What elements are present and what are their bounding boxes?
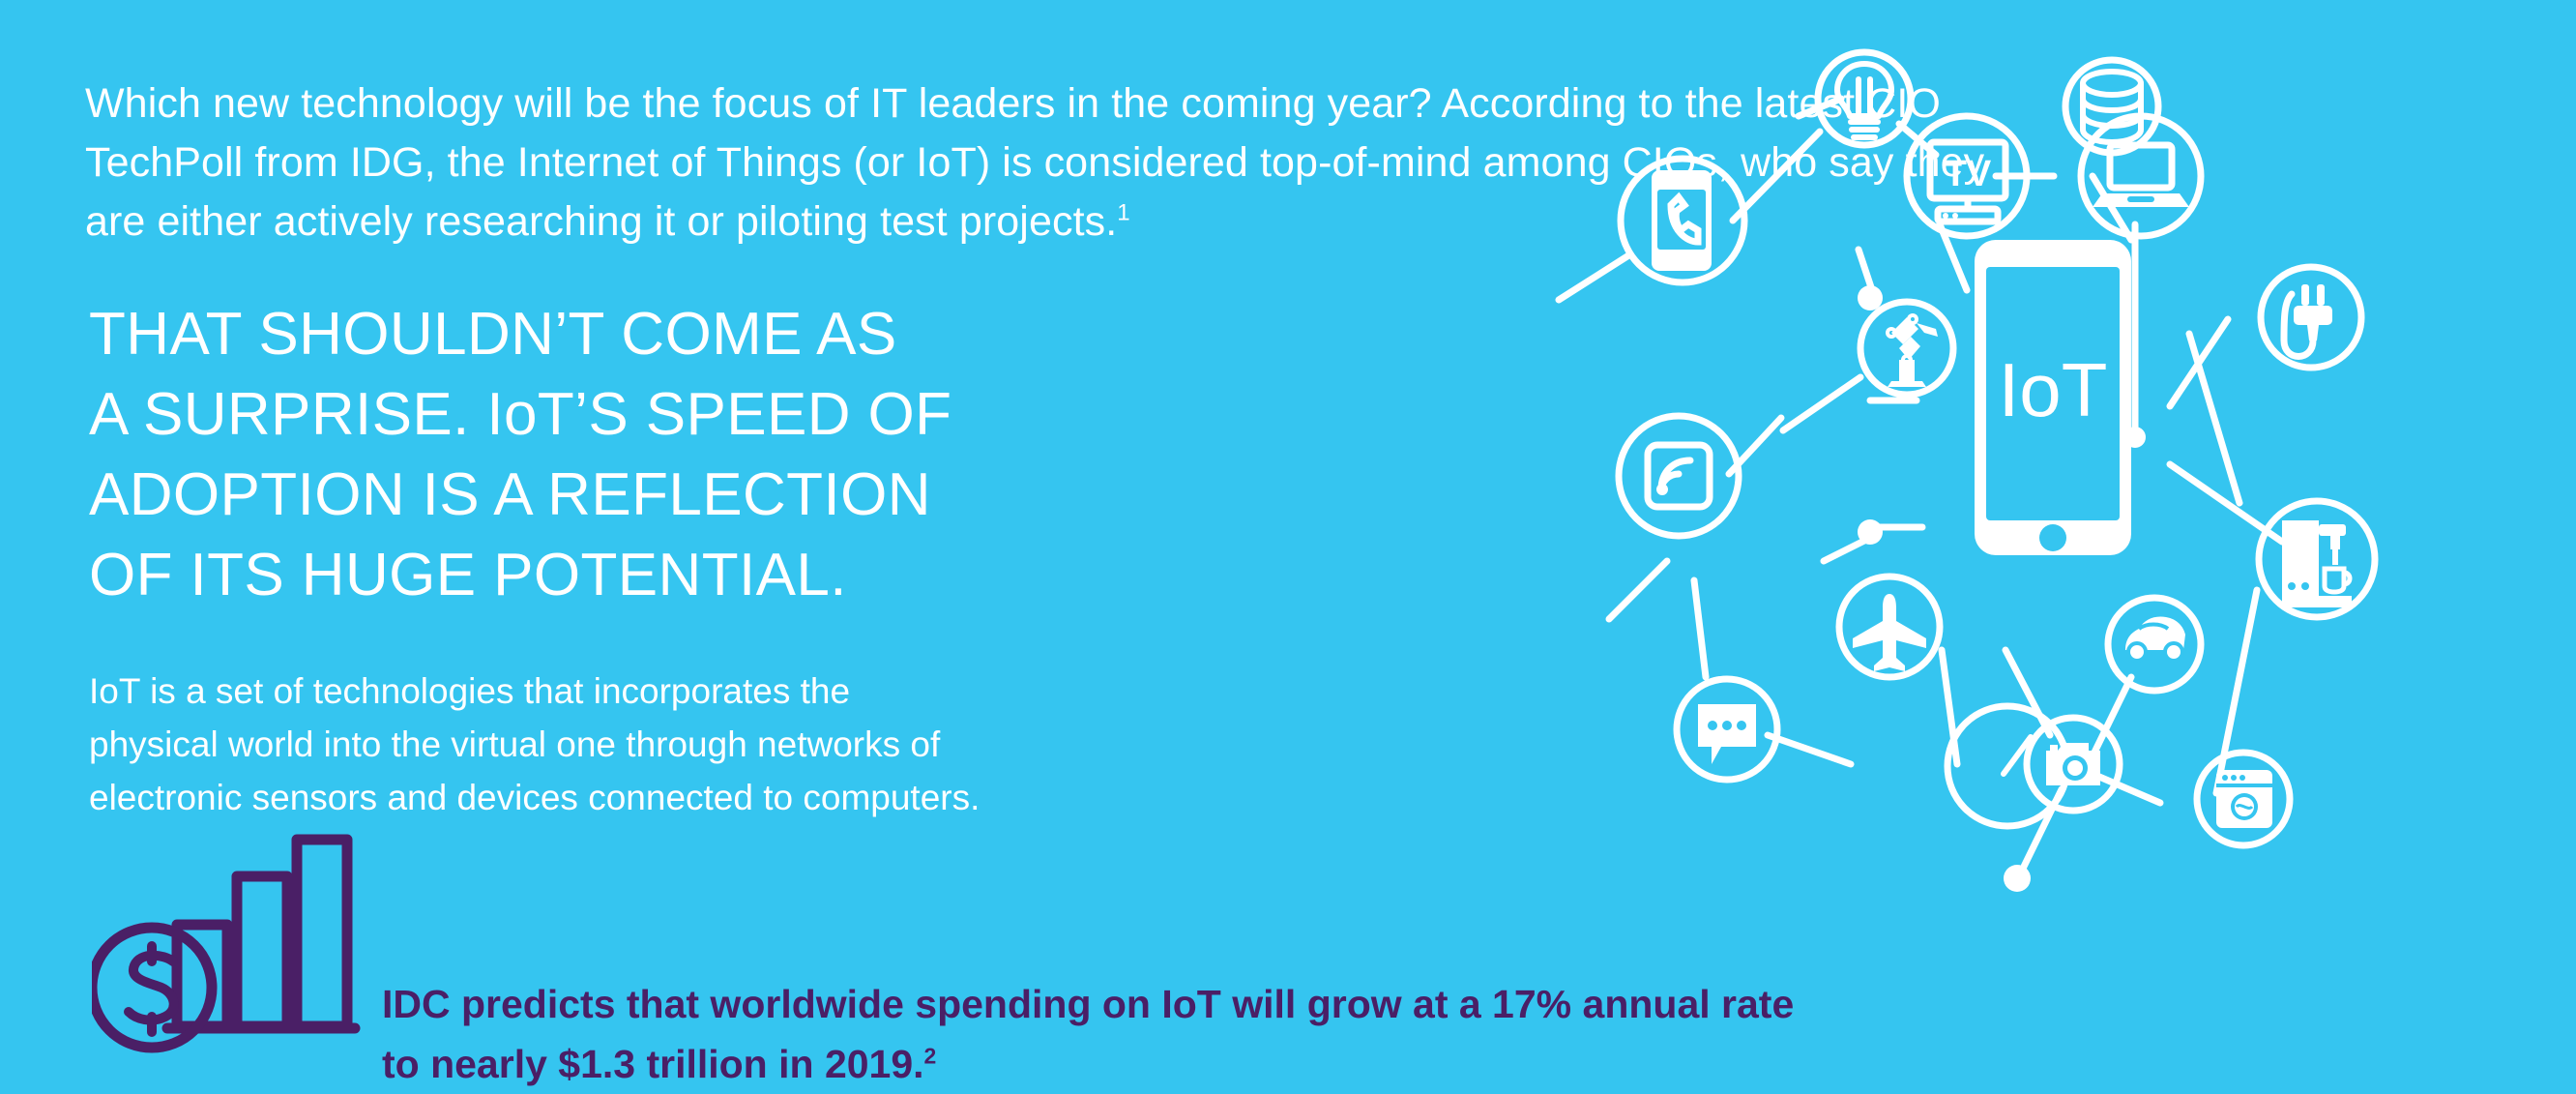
power-plug-icon (2261, 267, 2361, 368)
airplane-icon (1839, 577, 1940, 677)
chat-bubble-icon (1677, 679, 1777, 780)
robot-arm-icon (1860, 302, 1953, 395)
coffee-machine-icon (2259, 501, 2375, 617)
wifi-signal-icon (1619, 416, 1739, 536)
tv-label: TV (1945, 154, 1992, 194)
infographic-canvas: Which new technology will be the focus o… (0, 0, 2576, 1083)
stat-text: IDC predicts that worldwide spending on … (382, 974, 2142, 1094)
headline: THAT SHOULDN’T COME AS A SURPRISE. IoT’S… (89, 294, 951, 615)
lightbulb-icon (1818, 52, 1911, 145)
iot-center-label: IoT (1999, 347, 2108, 432)
iot-network-diagram: TV (1551, 0, 2576, 987)
tv-icon: TV (1907, 116, 2027, 236)
database-icon (2065, 60, 2158, 153)
stat-footnote-marker: 2 (924, 1043, 937, 1068)
washing-machine-icon (2197, 753, 2290, 845)
intro-footnote-marker: 1 (1117, 200, 1130, 226)
iot-center-phone: IoT (1975, 240, 2131, 555)
dollar-bar-chart-icon (92, 830, 363, 1057)
smartphone-call-icon (1621, 159, 1744, 282)
stat-sentence: IDC predicts that worldwide spending on … (382, 982, 1794, 1086)
camera-icon (2027, 718, 2120, 811)
car-icon (2108, 598, 2201, 691)
body-copy: IoT is a set of technologies that incorp… (89, 665, 1249, 824)
